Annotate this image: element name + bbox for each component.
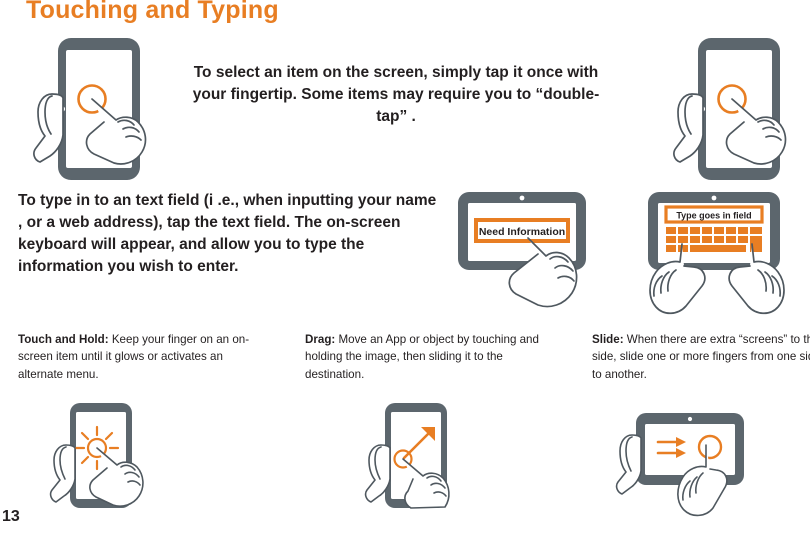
tablet-landscape-text-field-illustration: Need Information <box>452 190 617 315</box>
gesture-body-label: When there are extra “screens” to the si… <box>592 333 810 381</box>
gesture-block-slide: Slide: When there are extra “screens” to… <box>592 331 810 383</box>
gesture-description: Slide: When there are extra “screens” to… <box>592 331 810 383</box>
gesture-lead-label: Touch and Hold: <box>18 333 109 346</box>
text-field-need-information-label: Need Information <box>479 226 565 238</box>
tablet-landscape-slide-illustration <box>614 411 784 521</box>
tablet-portrait-glow-illustration <box>42 401 202 511</box>
tablet-landscape-keyboard-illustration: Type goes in field <box>622 190 810 315</box>
typing-paragraph: To type in to an text field (i .e., when… <box>18 190 438 278</box>
gesture-description: Drag: Move an App or object by touching … <box>305 331 545 383</box>
page-number: 13 <box>2 508 20 526</box>
tablet-portrait-drag-illustration <box>347 401 507 511</box>
intro-paragraph: To select an item on the screen, simply … <box>186 62 606 128</box>
tablet-portrait-tap-left-illustration <box>22 36 192 186</box>
gesture-block-touch-and-hold: Touch and Hold: Keep your finger on an o… <box>18 331 258 383</box>
tablet-camera <box>520 196 525 201</box>
gesture-block-drag: Drag: Move an App or object by touching … <box>305 331 545 383</box>
text-field-type-goes-in-field-label: Type goes in field <box>676 211 751 221</box>
tablet-portrait-tap-right-illustration <box>662 36 810 186</box>
manual-page: Touching and Typing To select an ite <box>0 0 810 533</box>
left-hand-holding <box>617 435 641 494</box>
tablet-camera <box>712 196 717 201</box>
gesture-lead-label: Drag: <box>305 333 335 346</box>
gesture-description: Touch and Hold: Keep your finger on an o… <box>18 331 258 383</box>
tablet-camera <box>688 417 692 421</box>
page-title: Touching and Typing <box>26 0 279 25</box>
gesture-lead-label: Slide: <box>592 333 624 346</box>
gesture-body-label: Move an App or object by touching and ho… <box>305 333 539 381</box>
